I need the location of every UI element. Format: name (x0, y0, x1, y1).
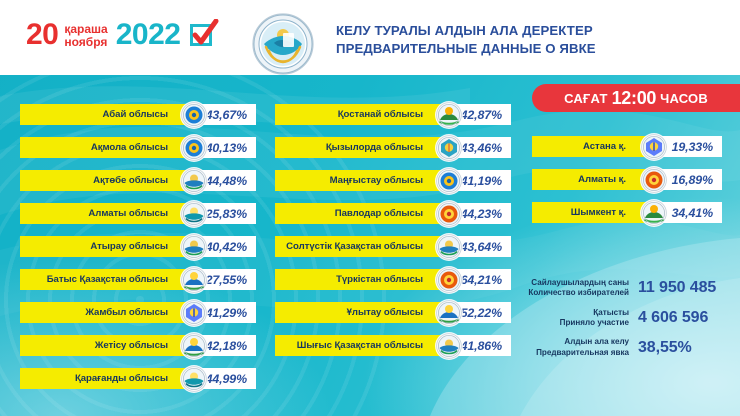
row-label-cell: Қызылорда облысы (275, 137, 445, 158)
table-row: Батыс Қазақстан облысы 27,55% (20, 269, 256, 290)
time-banner: САҒАТ 12:00 ЧАСОВ (532, 84, 740, 112)
checkbox-checked-icon (190, 24, 212, 46)
table-row: Астана қ. 19,33% (532, 136, 722, 157)
row-label: Атырау облысы (90, 241, 168, 252)
row-label-cell: Абай облысы (20, 104, 190, 125)
row-value: 42,18% (206, 339, 247, 353)
row-label-cell: Алматы облысы (20, 203, 190, 224)
row-label: Түркістан облысы (336, 274, 423, 285)
time-banner-time: 12:00 (612, 88, 657, 109)
row-value: 41,86% (461, 339, 502, 353)
row-label: Ақмола облысы (91, 142, 168, 153)
date-month-kk: қараша (64, 23, 107, 35)
row-label: Шығыс Қазақстан облысы (297, 340, 423, 351)
karaganda-region-emblem-icon (181, 366, 207, 392)
table-row: Алматы облысы 25,83% (20, 203, 256, 224)
header-title-ru: ПРЕДВАРИТЕЛЬНЫЕ ДАННЫЕ О ЯВКЕ (336, 40, 596, 58)
header-titles: КЕЛУ ТУРАЛЫ АЛДЫН АЛА ДЕРЕКТЕР ПРЕДВАРИТ… (336, 22, 596, 57)
header-title-kk: КЕЛУ ТУРАЛЫ АЛДЫН АЛА ДЕРЕКТЕР (336, 22, 596, 40)
row-label-cell: Жетісу облысы (20, 335, 190, 356)
row-value: 43,64% (461, 240, 502, 254)
row-label: Шымкент қ. (571, 207, 626, 218)
row-value: 41,19% (461, 174, 502, 188)
stat-value: 38,55% (638, 339, 692, 357)
stat-item: Алдын ала келуПредварительная явка38,55% (520, 337, 740, 358)
row-label: Алматы облысы (88, 208, 168, 219)
table-row: Маңғыстау облысы 41,19% (275, 170, 511, 191)
row-label: Жамбыл облысы (85, 307, 168, 318)
atyrau-region-emblem-icon (181, 234, 207, 260)
stat-label-ru: Предварительная явка (520, 348, 629, 358)
row-label: Қостанай облысы (338, 109, 423, 120)
turkistan-region-emblem-icon (436, 267, 462, 293)
row-label-cell: Павлодар облысы (275, 203, 445, 224)
almaty-region-emblem-icon (181, 201, 207, 227)
row-label-cell: Ақтөбе облысы (20, 170, 190, 191)
row-label: Алматы қ. (578, 174, 626, 185)
stat-label-ru: Количество избирателей (520, 288, 629, 298)
north-kazakhstan-region-emblem-icon (436, 234, 462, 260)
mangystau-region-emblem-icon (436, 168, 462, 194)
row-value: 41,29% (206, 306, 247, 320)
row-label: Астана қ. (583, 141, 626, 152)
row-label-cell: Қостанай облысы (275, 104, 445, 125)
row-label-cell: Шығыс Қазақстан облысы (275, 335, 445, 356)
row-label-cell: Маңғыстау облысы (275, 170, 445, 191)
table-row: Абай облысы 43,67% (20, 104, 256, 125)
stat-item: ҚатыстыПринялo участие4 606 596 (520, 308, 740, 329)
table-row: Алматы қ. 16,89% (532, 169, 722, 190)
stat-label-kk: Алдын ала келу (520, 337, 629, 347)
west-kazakhstan-region-emblem-icon (181, 267, 207, 293)
stat-label-kk: Қатысты (520, 308, 629, 318)
row-value: 64,21% (461, 273, 502, 287)
stat-value: 11 950 485 (638, 279, 716, 297)
row-label: Солтүстік Қазақстан облысы (286, 241, 423, 252)
row-label: Павлодар облысы (335, 208, 423, 219)
table-row: Жамбыл облысы 41,29% (20, 302, 256, 323)
row-value: 44,23% (461, 207, 502, 221)
stat-item: Сайлаушылардың саныКоличество избирателе… (520, 278, 740, 299)
date-year: 2022 (116, 20, 181, 50)
time-banner-suffix: ЧАСОВ (660, 91, 708, 106)
row-value: 52,22% (461, 306, 502, 320)
row-value: 44,48% (206, 174, 247, 188)
table-row: Жетісу облысы 42,18% (20, 335, 256, 356)
table-row: Шығыс Қазақстан облысы 41,86% (275, 335, 511, 356)
time-banner-prefix: САҒАТ (564, 91, 608, 106)
table-row: Қостанай облысы 42,87% (275, 104, 511, 125)
row-label-cell: Алматы қ. (532, 169, 650, 190)
date-day: 20 (26, 20, 58, 50)
regions-column-2: Қостанай облысы 42,87%Қызылорда облысы 4… (275, 104, 511, 368)
row-value: 25,83% (206, 207, 247, 221)
stat-label-ru: Принялo участие (520, 318, 629, 328)
kyzylorda-region-emblem-icon (436, 135, 462, 161)
table-row: Қызылорда облысы 43,46% (275, 137, 511, 158)
stat-label-kk: Сайлаушылардың саны (520, 278, 629, 288)
row-label-cell: Батыс Қазақстан облысы (20, 269, 190, 290)
row-label: Батыс Қазақстан облысы (47, 274, 168, 285)
date-month-ru: ноября (64, 36, 107, 48)
pavlodar-region-emblem-icon (436, 201, 462, 227)
table-row: Шымкент қ. 34,41% (532, 202, 722, 223)
regions-column-1: Абай облысы 43,67%Ақмола облысы 40,13%Ақ… (20, 104, 256, 401)
row-label-cell: Астана қ. (532, 136, 650, 157)
date-month-names: қараша ноября (64, 22, 107, 48)
table-row: Қарағанды облысы 44,99% (20, 368, 256, 389)
shymkent-city-emblem-icon (641, 200, 667, 226)
akmola-region-emblem-icon (181, 135, 207, 161)
ulytau-region-emblem-icon (436, 300, 462, 326)
abai-region-emblem-icon (181, 102, 207, 128)
kostanay-region-emblem-icon (436, 102, 462, 128)
row-value: 44,99% (206, 372, 247, 386)
row-value: 43,67% (206, 108, 247, 122)
row-label: Қызылорда облысы (326, 142, 423, 153)
aktobe-region-emblem-icon (181, 168, 207, 194)
row-label-cell: Жамбыл облысы (20, 302, 190, 323)
table-row: Ақмола облысы 40,13% (20, 137, 256, 158)
row-value: 27,55% (206, 273, 247, 287)
stat-labels: Сайлаушылардың саныКоличество избирателе… (520, 278, 638, 299)
summary-stats-block: Сайлаушылардың саныКоличество избирателе… (520, 278, 740, 367)
stat-labels: ҚатыстыПринялo участие (520, 308, 638, 329)
row-value: 19,33% (672, 140, 713, 154)
kazakhstan-cec-emblem-icon (252, 13, 314, 75)
row-value: 40,42% (206, 240, 247, 254)
stat-value: 4 606 596 (638, 309, 708, 327)
row-label-cell: Қарағанды облысы (20, 368, 190, 389)
row-label: Ақтөбе облысы (93, 175, 168, 186)
row-label: Қарағанды облысы (75, 373, 168, 384)
table-row: Түркістан облысы 64,21% (275, 269, 511, 290)
stat-labels: Алдын ала келуПредварительная явка (520, 337, 638, 358)
table-row: Павлодар облысы 44,23% (275, 203, 511, 224)
astana-city-emblem-icon (641, 134, 667, 160)
row-value: 42,87% (461, 108, 502, 122)
row-value: 16,89% (672, 173, 713, 187)
row-label-cell: Ұлытау облысы (275, 302, 445, 323)
almaty-city-emblem-icon (641, 167, 667, 193)
turnout-infographic-poster: 20 қараша ноября 2022 К (0, 0, 740, 416)
table-row: Атырау облысы 40,42% (20, 236, 256, 257)
row-label-cell: Атырау облысы (20, 236, 190, 257)
header-bar: 20 қараша ноября 2022 К (0, 0, 740, 75)
cities-column-3: Астана қ. 19,33%Алматы қ. 16,89%Шымкент … (532, 136, 722, 235)
zhambyl-region-emblem-icon (181, 300, 207, 326)
table-row: Ақтөбе облысы 44,48% (20, 170, 256, 191)
row-label: Жетісу облысы (95, 340, 168, 351)
date-block: 20 қараша ноября 2022 (26, 20, 212, 50)
table-row: Ұлытау облысы 52,22% (275, 302, 511, 323)
row-value: 34,41% (672, 206, 713, 220)
zhetysu-region-emblem-icon (181, 333, 207, 359)
east-kazakhstan-region-emblem-icon (436, 333, 462, 359)
row-label-cell: Шымкент қ. (532, 202, 650, 223)
row-value: 43,46% (461, 141, 502, 155)
row-label-cell: Ақмола облысы (20, 137, 190, 158)
row-label: Ұлытау облысы (347, 307, 423, 318)
row-label: Маңғыстау облысы (330, 175, 423, 186)
row-label: Абай облысы (103, 109, 168, 120)
table-row: Солтүстік Қазақстан облысы 43,64% (275, 236, 511, 257)
row-value: 40,13% (206, 141, 247, 155)
row-label-cell: Солтүстік Қазақстан облысы (275, 236, 445, 257)
row-label-cell: Түркістан облысы (275, 269, 445, 290)
